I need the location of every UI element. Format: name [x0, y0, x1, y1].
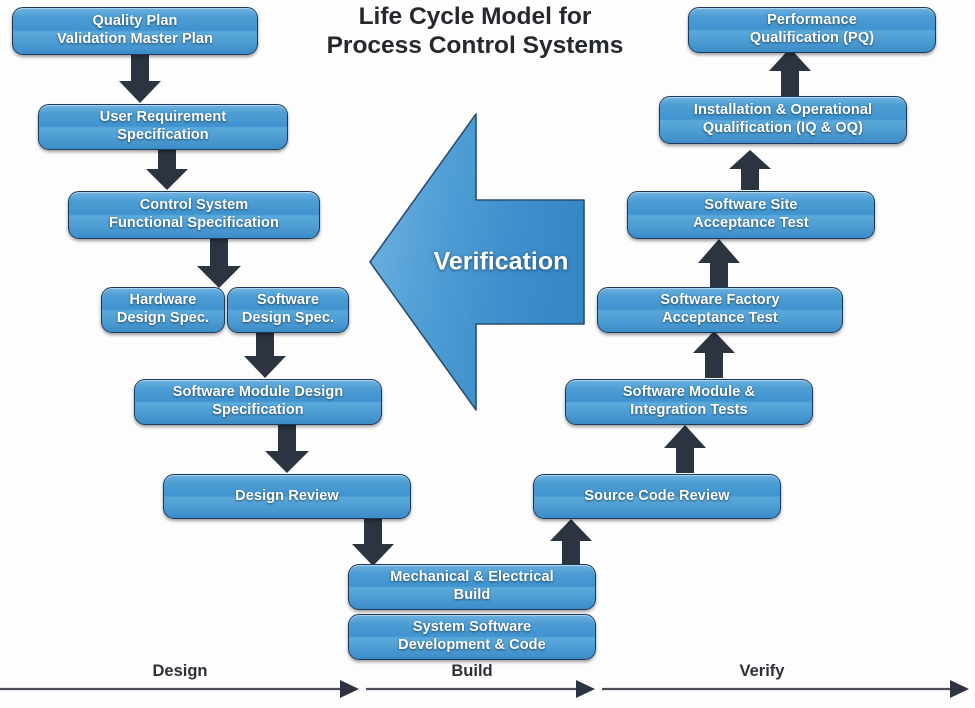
- node-quality-plan[interactable]: Quality Plan Validation Master Plan: [12, 7, 258, 55]
- phase-label-design: Design: [110, 662, 250, 681]
- phase-axis-verify: [602, 678, 970, 700]
- node-installation-operational-qualification[interactable]: Installation & Operational Qualification…: [659, 96, 907, 144]
- node-design-review[interactable]: Design Review: [163, 474, 411, 519]
- node-label: Software Site Acceptance Test: [693, 197, 809, 232]
- connector-arrow-up-2: [663, 425, 707, 474]
- diagram-title: Life Cycle Model for Process Control Sys…: [300, 2, 650, 61]
- node-mechanical-electrical-build[interactable]: Mechanical & Electrical Build: [348, 564, 596, 610]
- node-software-design-spec[interactable]: Software Design Spec.: [227, 287, 349, 333]
- node-label: Software Module & Integration Tests: [623, 384, 755, 419]
- node-source-code-review[interactable]: Source Code Review: [533, 474, 781, 519]
- node-label: Hardware Design Spec.: [117, 292, 209, 327]
- connector-arrow-up-3: [692, 331, 736, 379]
- connector-arrow-up-4: [697, 239, 741, 289]
- phase-label-verify: Verify: [692, 662, 832, 681]
- node-label: Software Design Spec.: [242, 292, 334, 327]
- phase-axis-build: [366, 678, 596, 700]
- node-label: Installation & Operational Qualification…: [694, 102, 872, 137]
- node-label: Performance Qualification (PQ): [750, 12, 874, 47]
- phase-label-build: Build: [402, 662, 542, 681]
- phase-axis-design: [0, 678, 360, 700]
- node-label: Software Module Design Specification: [173, 384, 344, 419]
- node-label: Design Review: [235, 488, 339, 506]
- connector-arrow-down-1: [118, 55, 162, 104]
- connector-arrow-down-5: [264, 425, 310, 474]
- connector-arrow-down-6: [351, 519, 395, 567]
- node-label: Source Code Review: [584, 488, 729, 506]
- node-label: User Requirement Specification: [100, 109, 227, 144]
- life-cycle-model-diagram: Life Cycle Model for Process Control Sys…: [0, 0, 975, 708]
- node-label: System Software Development & Code: [398, 619, 546, 654]
- node-software-module-integration-tests[interactable]: Software Module & Integration Tests: [565, 379, 813, 425]
- node-label: Quality Plan Validation Master Plan: [57, 13, 213, 48]
- node-label: Mechanical & Electrical Build: [390, 569, 554, 604]
- node-control-system-functional-specification[interactable]: Control System Functional Specification: [68, 191, 320, 239]
- node-performance-qualification[interactable]: Performance Qualification (PQ): [688, 7, 936, 53]
- node-software-factory-acceptance-test[interactable]: Software Factory Acceptance Test: [597, 287, 843, 333]
- node-software-module-design-specification[interactable]: Software Module Design Specification: [134, 379, 382, 425]
- verification-arrow: Verification: [368, 112, 586, 412]
- node-software-site-acceptance-test[interactable]: Software Site Acceptance Test: [627, 191, 875, 239]
- node-label: Software Factory Acceptance Test: [660, 292, 779, 327]
- node-hardware-design-spec[interactable]: Hardware Design Spec.: [101, 287, 225, 333]
- connector-arrow-up-5: [728, 150, 772, 191]
- connector-arrow-down-4: [243, 331, 287, 379]
- connector-arrow-down-3: [196, 239, 242, 289]
- connector-arrow-down-2: [145, 150, 189, 191]
- node-user-requirement-specification[interactable]: User Requirement Specification: [38, 104, 288, 150]
- connector-arrow-up-1: [549, 519, 593, 567]
- node-label: Control System Functional Specification: [109, 197, 279, 232]
- connector-arrow-up-6: [768, 48, 812, 97]
- node-system-software-development-code[interactable]: System Software Development & Code: [348, 614, 596, 660]
